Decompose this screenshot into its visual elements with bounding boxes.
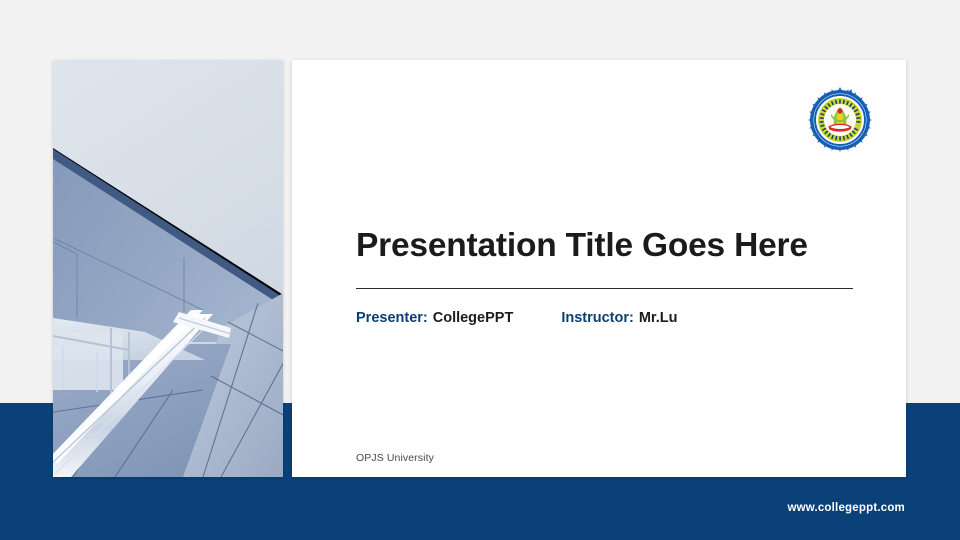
instructor-label: Instructor: [561,310,634,326]
meta-row: Presenter: CollegePPT Instructor: Mr.Lu [356,310,677,326]
university-seal-icon [807,87,873,153]
university-seal-logo [807,87,873,153]
presenter-value: CollegePPT [433,310,514,326]
page-title: Presentation Title Goes Here [356,228,808,265]
organization-name: OPJS University [356,452,434,464]
site-url: www.collegeppt.com [787,502,905,514]
content-card: Presentation Title Goes Here Presenter: … [292,60,906,477]
cover-photo [53,60,283,477]
title-divider [356,288,853,289]
presenter-label: Presenter: [356,310,428,326]
cover-photo-illustration [53,60,283,477]
instructor-value: Mr.Lu [639,310,678,326]
presentation-slide: www.collegeppt.com [0,0,960,540]
presenter-group: Presenter: CollegePPT [356,310,513,326]
instructor-group: Instructor: Mr.Lu [561,310,677,326]
